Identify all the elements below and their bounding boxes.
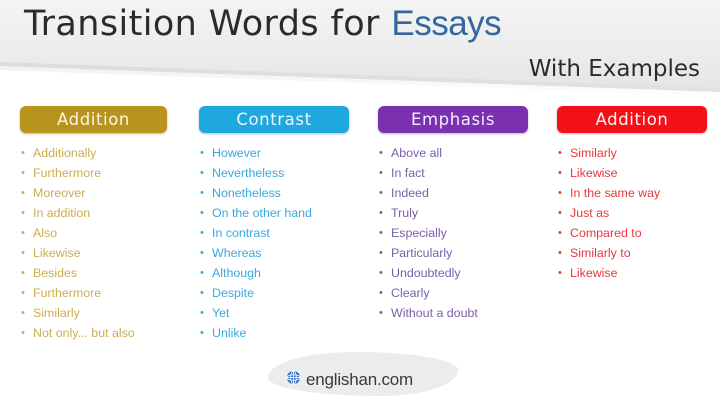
list-item: Similarly to	[557, 243, 720, 263]
list-item: Nevertheless	[199, 163, 362, 183]
list-item: Likewise	[20, 243, 183, 263]
list-item: Likewise	[557, 263, 720, 283]
list-item: Similarly	[20, 303, 183, 323]
globe-icon	[286, 370, 301, 390]
list-item: In contrast	[199, 223, 362, 243]
list-item: Just as	[557, 203, 720, 223]
list-item: Truly	[378, 203, 541, 223]
list-item: Clearly	[378, 283, 541, 303]
list-item: Furthermore	[20, 163, 183, 183]
poster-canvas: Transition Words for Essays With Example…	[0, 0, 720, 404]
column-contrast: Contrast However Nevertheless Nonetheles…	[199, 106, 362, 343]
word-list-contrast: However Nevertheless Nonetheless On the …	[199, 143, 362, 343]
list-item: In fact	[378, 163, 541, 183]
list-item: Undoubtedly	[378, 263, 541, 283]
brand-text: englishan.com	[306, 370, 413, 390]
list-item: Also	[20, 223, 183, 243]
list-item: Likewise	[557, 163, 720, 183]
list-item: Unlike	[199, 323, 362, 343]
page-subtitle: With Examples	[529, 56, 700, 82]
word-list-addition-red: Similarly Likewise In the same way Just …	[557, 143, 720, 283]
column-header-contrast: Contrast	[199, 106, 349, 133]
column-header-addition-gold: Addition	[20, 106, 167, 133]
list-item: Similarly	[557, 143, 720, 163]
list-item: However	[199, 143, 362, 163]
list-item: Additionally	[20, 143, 183, 163]
list-item: Besides	[20, 263, 183, 283]
brand-watermark: englishan.com	[286, 370, 413, 390]
list-item: Indeed	[378, 183, 541, 203]
list-item: Not only... but also	[20, 323, 183, 343]
list-item: Moreover	[20, 183, 183, 203]
column-addition-red: Addition Similarly Likewise In the same …	[557, 106, 720, 343]
column-addition-gold: Addition Additionally Furthermore Moreov…	[20, 106, 183, 343]
word-columns: Addition Additionally Furthermore Moreov…	[0, 106, 720, 343]
column-emphasis: Emphasis Above all In fact Indeed Truly …	[378, 106, 541, 343]
list-item: In the same way	[557, 183, 720, 203]
list-item: Yet	[199, 303, 362, 323]
list-item: Without a doubt	[378, 303, 541, 323]
list-item: Furthermore	[20, 283, 183, 303]
list-item: Especially	[378, 223, 541, 243]
list-item: Nonetheless	[199, 183, 362, 203]
list-item: Above all	[378, 143, 541, 163]
list-item: Although	[199, 263, 362, 283]
word-list-emphasis: Above all In fact Indeed Truly Especiall…	[378, 143, 541, 323]
list-item: Particularly	[378, 243, 541, 263]
page-title: Transition Words for Essays	[24, 4, 501, 44]
list-item: On the other hand	[199, 203, 362, 223]
list-item: Whereas	[199, 243, 362, 263]
list-item: Compared to	[557, 223, 720, 243]
word-list-addition-gold: Additionally Furthermore Moreover In add…	[20, 143, 183, 343]
column-header-emphasis: Emphasis	[378, 106, 528, 133]
page-title-accent: Essays	[391, 4, 501, 43]
list-item: Despite	[199, 283, 362, 303]
list-item: In addition	[20, 203, 183, 223]
column-header-addition-red: Addition	[557, 106, 707, 133]
page-title-prefix: Transition Words for	[24, 4, 391, 44]
